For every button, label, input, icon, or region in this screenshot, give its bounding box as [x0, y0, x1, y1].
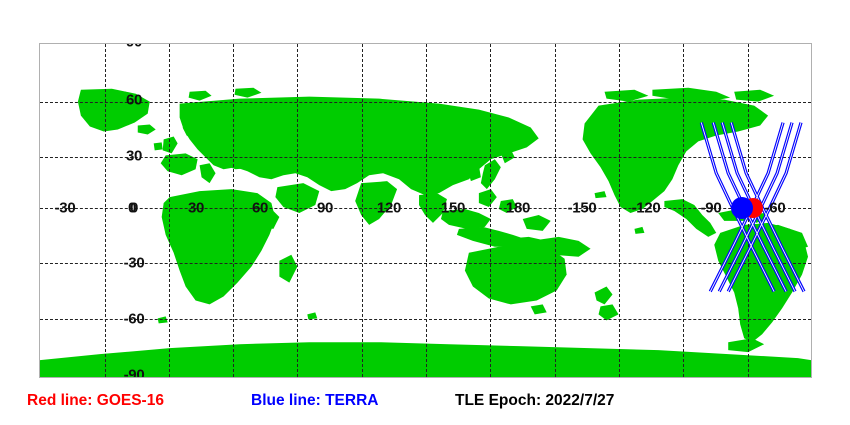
- lat-label--30: -30: [124, 255, 145, 272]
- lon-label--150: -150: [568, 200, 597, 217]
- lat-label-60: 60: [126, 92, 142, 109]
- lon-label--60: -60: [765, 200, 786, 217]
- satellite-ground-track-page: 90 60 30 0 -30 -60 -90 -30 0 30 60 90 12…: [0, 0, 850, 425]
- lon-label--120: -120: [632, 200, 661, 217]
- lon-label-90: 90: [317, 200, 333, 217]
- lat-label--90: -90: [124, 367, 145, 379]
- lat-label-30: 30: [126, 148, 142, 165]
- lon-label-150: 150: [441, 200, 465, 217]
- world-map-plot: 90 60 30 0 -30 -60 -90 -30 0 30 60 90 12…: [40, 44, 811, 377]
- lon-label-30: 30: [188, 200, 204, 217]
- terra-marker: [731, 197, 753, 219]
- legend-footer: Red line: GOES-16 Blue line: TERRA TLE E…: [0, 392, 850, 425]
- lon-label-60: 60: [252, 200, 268, 217]
- lat-label-90: 90: [126, 43, 142, 51]
- terra-ground-track-layer: [40, 44, 811, 377]
- lon-label-180: 180: [506, 200, 530, 217]
- legend-tle-epoch: TLE Epoch: 2022/7/27: [455, 392, 614, 410]
- lat-label--60: -60: [124, 311, 145, 328]
- world-map-frame: 90 60 30 0 -30 -60 -90 -30 0 30 60 90 12…: [39, 43, 812, 378]
- lon-label--30: -30: [55, 200, 76, 217]
- legend-red-line: Red line: GOES-16: [27, 392, 164, 410]
- lon-label--90: -90: [701, 200, 722, 217]
- legend-blue-line: Blue line: TERRA: [251, 392, 378, 410]
- lon-label-120: 120: [377, 200, 401, 217]
- lon-label-0: 0: [128, 200, 136, 217]
